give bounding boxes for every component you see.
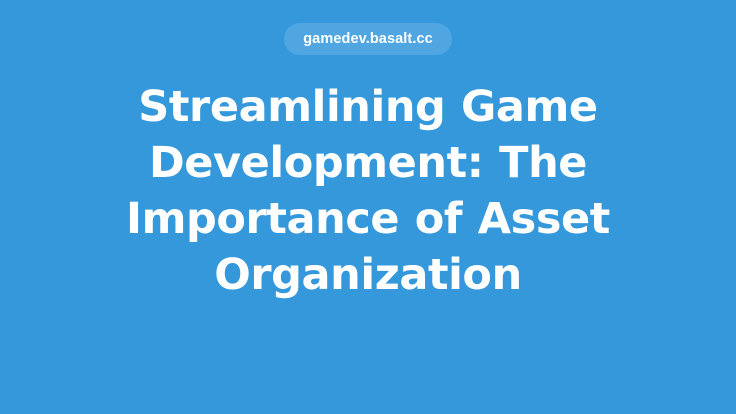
share-card: gamedev.basalt.cc Streamlining Game Deve… <box>0 0 736 414</box>
badge-row: gamedev.basalt.cc <box>0 23 736 55</box>
site-domain-badge[interactable]: gamedev.basalt.cc <box>284 23 452 55</box>
headline-container: Streamlining Game Development: The Impor… <box>88 79 648 303</box>
page-title: Streamlining Game Development: The Impor… <box>88 79 648 303</box>
